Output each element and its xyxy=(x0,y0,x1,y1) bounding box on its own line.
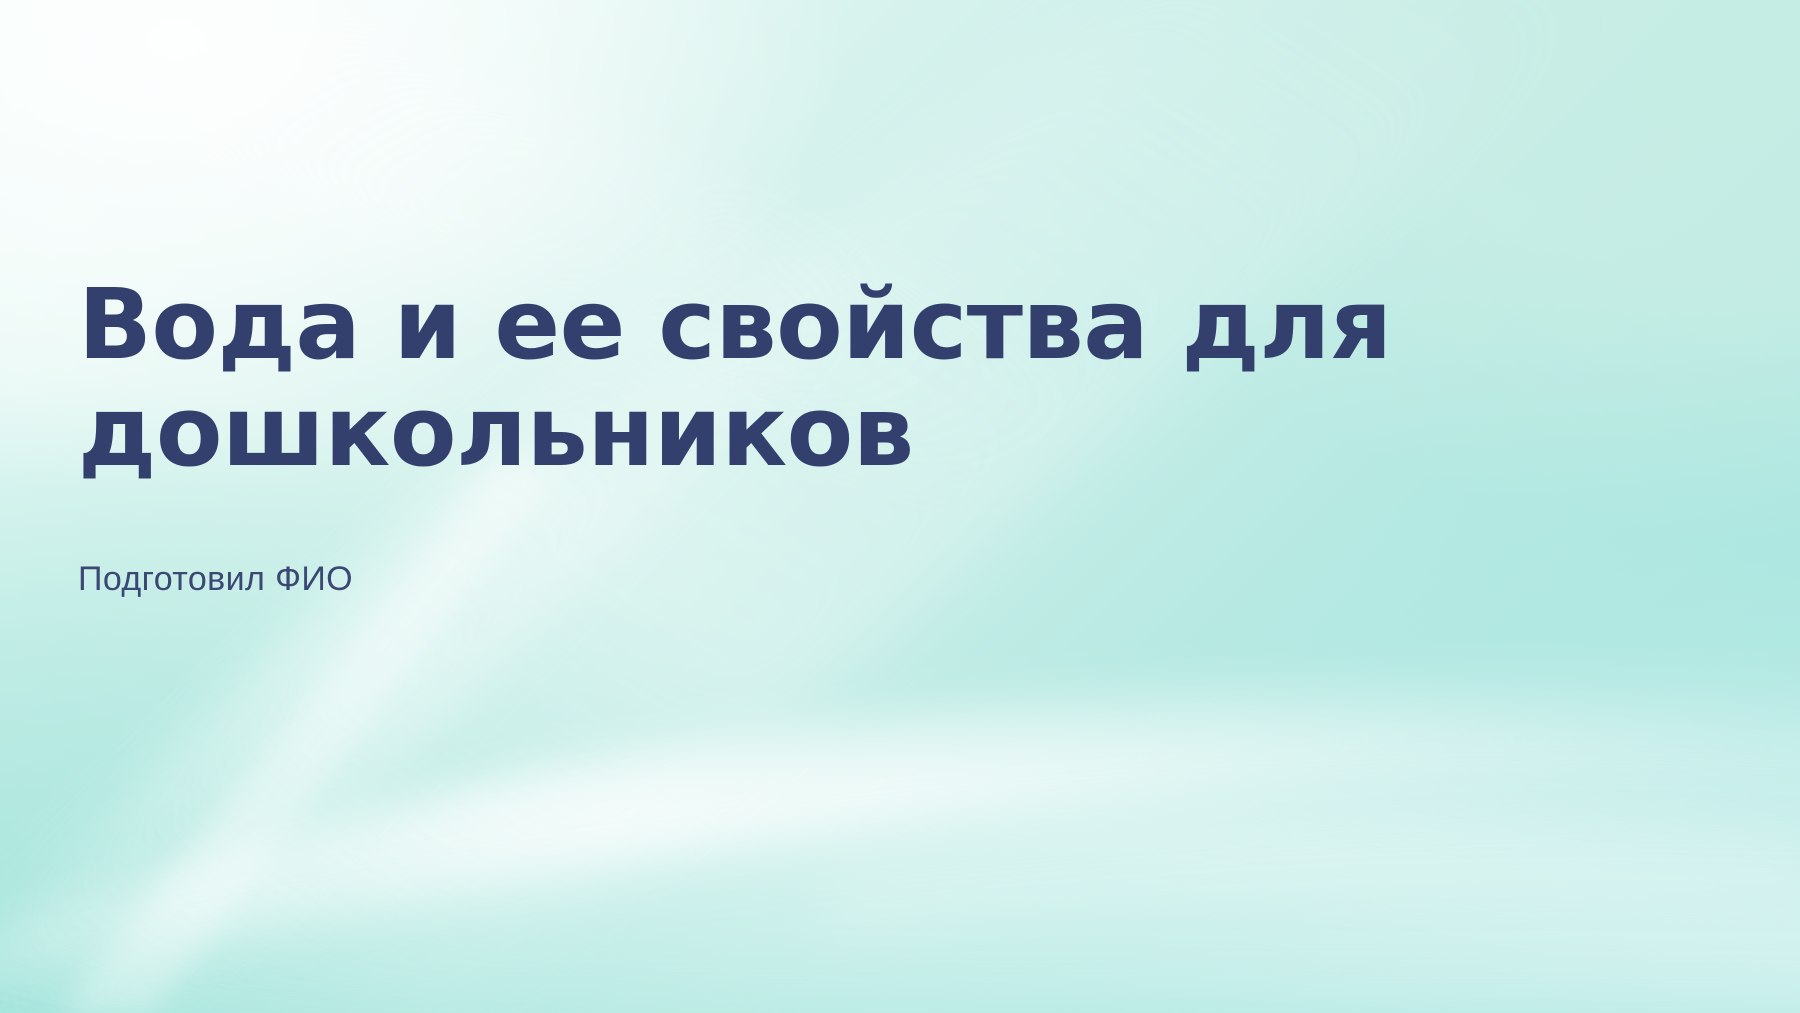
slide-content: Вода и ее свойства для дошкольников Подг… xyxy=(78,272,1598,600)
presentation-slide: Вода и ее свойства для дошкольников Подг… xyxy=(0,0,1800,1013)
slide-title: Вода и ее свойства для дошкольников xyxy=(78,272,1568,485)
slide-subtitle-author: Подготовил ФИО xyxy=(78,485,1598,600)
